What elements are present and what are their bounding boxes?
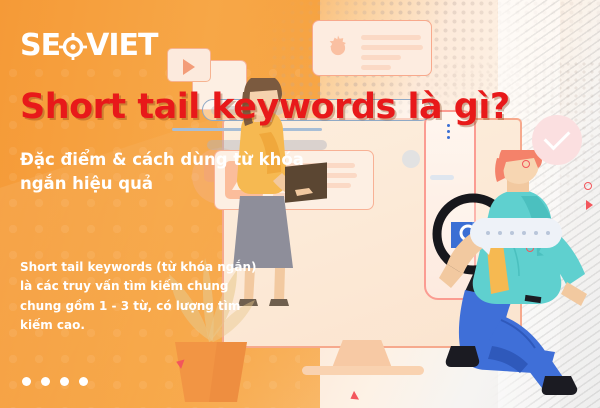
- circle-dot-icon: [522, 160, 530, 168]
- pagination-dot[interactable]: [22, 377, 31, 386]
- subtitle-line-2: ngắn hiệu quả: [20, 172, 320, 196]
- card-text-line: [361, 45, 423, 50]
- pagination-dot[interactable]: [79, 377, 88, 386]
- play-triangle-icon: [348, 391, 359, 403]
- card-text-line: [361, 35, 421, 40]
- target-crosshair-icon: [59, 32, 87, 60]
- circle-dot-icon: [584, 182, 592, 190]
- speech-bubble-icon: [470, 218, 562, 248]
- play-triangle-icon: [586, 200, 593, 210]
- body-text: Short tail keywords (từ khóa ngắn) là cá…: [20, 258, 270, 336]
- card-text-line: [361, 65, 391, 70]
- pagination-dot[interactable]: [41, 377, 50, 386]
- monitor-stand-base: [302, 366, 424, 375]
- subtitle: Đặc điểm & cách dùng từ khóa ngắn hiệu q…: [20, 148, 320, 196]
- gear-icon: [323, 33, 353, 63]
- play-icon: [183, 59, 195, 75]
- illustration-group: [232, 0, 600, 408]
- page-title: Short tail keywords là gì?: [20, 88, 510, 127]
- pagination-dot[interactable]: [60, 377, 69, 386]
- subtitle-line-1: Đặc điểm & cách dùng từ khóa: [20, 148, 320, 172]
- grey-circle-decoration: [402, 150, 420, 168]
- settings-card[interactable]: [312, 20, 432, 76]
- logo[interactable]: SE VIET: [20, 28, 157, 64]
- pagination-dots[interactable]: [22, 377, 88, 386]
- card-text-line: [361, 55, 401, 60]
- promotional-banner: SE VIET Short tail keywords là gì? Đặc đ…: [0, 0, 600, 408]
- man-kneeling-with-magnifier: [437, 150, 600, 408]
- logo-text-right: VIET: [86, 31, 157, 61]
- logo-text-left: SE: [20, 31, 60, 61]
- video-card: [167, 48, 211, 82]
